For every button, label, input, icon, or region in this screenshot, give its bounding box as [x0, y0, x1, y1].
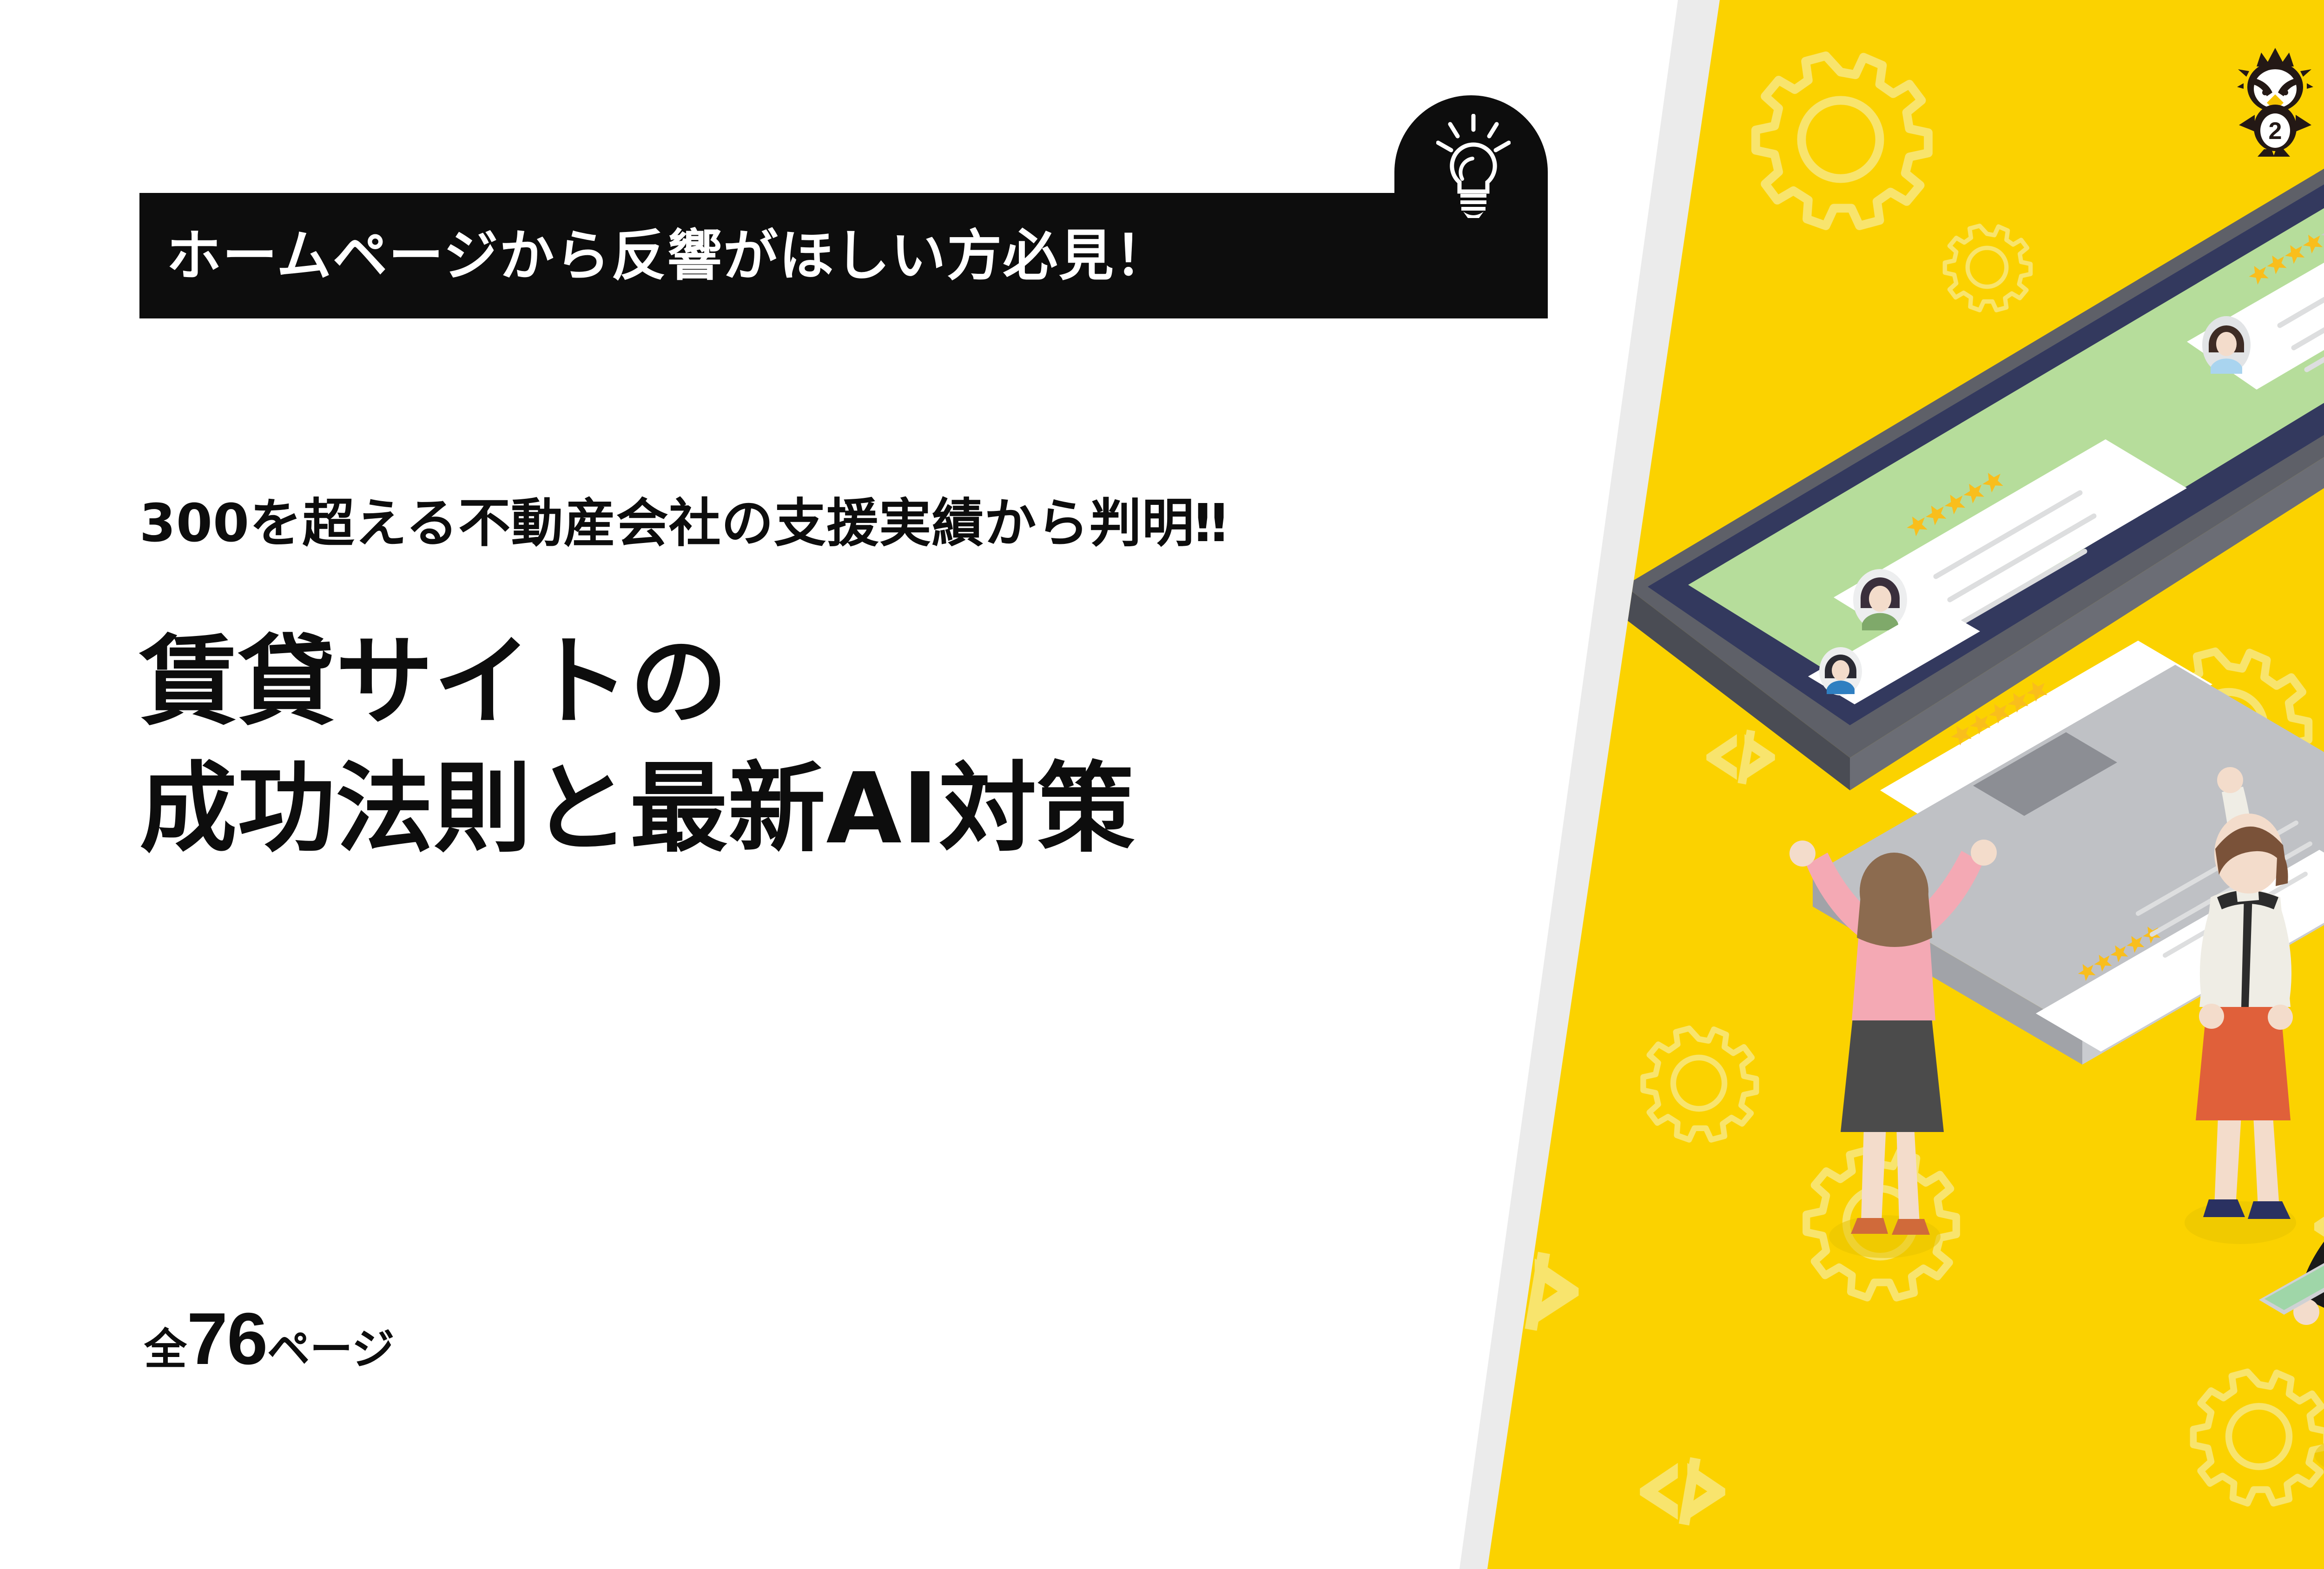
headline-line-2: 成功法則と最新AI対策	[139, 745, 1135, 872]
yellow-accent-panel	[1487, 0, 2324, 1569]
badge-label: ホームページから反響がほしい方必見！	[166, 228, 1171, 283]
penguin-mascot-icon: 2	[2237, 44, 2314, 158]
brand-logo[interactable]: 2 不動産ホームページ制作サービス PENGUIN2	[2237, 44, 2324, 158]
eyebrow-text: 300を超える不動産会社の支援実績から判明‼	[139, 497, 1228, 549]
page-count-suffix: ページ	[267, 1315, 395, 1377]
poster-canvas: 2 不動産ホームページ制作サービス PENGUIN2 ホームページから反響がほし…	[0, 0, 2324, 1569]
isometric-illustration	[1487, 0, 2324, 1569]
lightbulb-icon	[1436, 114, 1511, 221]
headline-line-1: 賃貸サイトの	[139, 618, 1135, 745]
page-count: 全 76 ページ	[144, 1297, 395, 1381]
page-title: 賃貸サイトの 成功法則と最新AI対策	[139, 618, 1135, 872]
page-count-prefix: 全	[144, 1315, 187, 1377]
svg-text:2: 2	[2268, 118, 2282, 145]
page-count-number: 76	[187, 1297, 267, 1381]
badge-bar: ホームページから反響がほしい方必見！	[139, 193, 1548, 318]
